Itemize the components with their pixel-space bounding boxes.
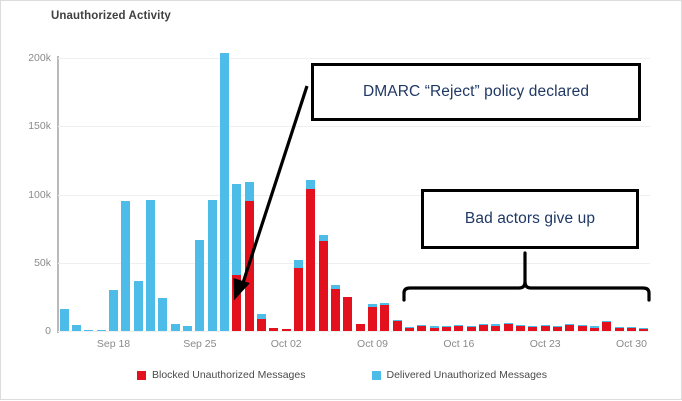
bar-segment-blocked[interactable]: [380, 305, 389, 331]
legend-swatch-icon: [137, 371, 146, 380]
bar-group[interactable]: [72, 325, 81, 331]
bar-segment-delivered[interactable]: [257, 314, 266, 319]
bar-segment-blocked[interactable]: [615, 328, 624, 331]
bar-segment-delivered[interactable]: [319, 235, 328, 241]
bar-group[interactable]: [615, 327, 624, 331]
bar-segment-delivered[interactable]: [134, 281, 143, 332]
bar-group[interactable]: [565, 324, 574, 331]
bar-segment-delivered[interactable]: [72, 325, 81, 331]
bar-segment-delivered[interactable]: [479, 324, 488, 325]
bar-segment-delivered[interactable]: [442, 326, 451, 327]
legend-item-delivered[interactable]: Delivered Unauthorized Messages: [372, 369, 548, 381]
bar-group[interactable]: [356, 324, 365, 332]
bar-segment-blocked[interactable]: [516, 326, 525, 331]
bar-segment-delivered[interactable]: [417, 325, 426, 326]
bar-group[interactable]: [220, 53, 229, 331]
bar-segment-blocked[interactable]: [331, 289, 340, 331]
bar-segment-delivered[interactable]: [158, 298, 167, 331]
bar-group[interactable]: [84, 330, 93, 331]
chart-legend: Blocked Unauthorized MessagesDelivered U…: [1, 369, 682, 381]
bar-segment-delivered[interactable]: [639, 328, 648, 329]
bar-segment-delivered[interactable]: [553, 326, 562, 327]
bar-segment-blocked[interactable]: [442, 327, 451, 331]
bar-group[interactable]: [504, 323, 513, 331]
bar-group[interactable]: [183, 326, 192, 331]
y-axis-tick-label: 50k: [34, 257, 51, 269]
bar-segment-delivered[interactable]: [306, 180, 315, 190]
gridline: [58, 58, 650, 59]
bar-segment-delivered[interactable]: [516, 325, 525, 326]
bar-segment-delivered[interactable]: [454, 325, 463, 326]
bar-segment-delivered[interactable]: [504, 323, 513, 324]
bar-group[interactable]: [627, 327, 636, 331]
bar-segment-delivered[interactable]: [232, 184, 241, 275]
bar-group[interactable]: [171, 324, 180, 332]
bar-segment-delivered[interactable]: [578, 325, 587, 326]
bar-segment-blocked[interactable]: [405, 328, 414, 331]
bar-segment-blocked[interactable]: [467, 327, 476, 331]
bar-segment-blocked[interactable]: [627, 328, 636, 331]
bar-group[interactable]: [639, 328, 648, 331]
bar-group[interactable]: [282, 329, 291, 331]
bar-segment-delivered[interactable]: [528, 326, 537, 327]
bar-group[interactable]: [306, 180, 315, 332]
bar-segment-blocked[interactable]: [565, 325, 574, 331]
legend-item-blocked[interactable]: Blocked Unauthorized Messages: [137, 369, 306, 381]
bar-segment-delivered[interactable]: [60, 309, 69, 331]
bar-segment-blocked[interactable]: [639, 329, 648, 331]
bar-segment-blocked[interactable]: [306, 189, 315, 331]
x-axis-tick-label: Oct 23: [530, 338, 561, 350]
bar-group[interactable]: [343, 297, 352, 331]
bar-segment-blocked[interactable]: [257, 319, 266, 331]
bar-group[interactable]: [195, 240, 204, 331]
bar-group[interactable]: [590, 326, 599, 331]
legend-label: Delivered Unauthorized Messages: [387, 369, 548, 381]
gridline: [58, 331, 650, 332]
bar-group[interactable]: [331, 285, 340, 331]
bar-segment-delivered[interactable]: [541, 325, 550, 326]
bar-segment-blocked[interactable]: [368, 307, 377, 331]
bar-group[interactable]: [380, 303, 389, 331]
bar-group[interactable]: [602, 321, 611, 331]
y-axis-ticks: 050k100k150k200k: [1, 1, 51, 401]
bar-group[interactable]: [405, 327, 414, 331]
bar-segment-delivered[interactable]: [195, 240, 204, 331]
bar-group[interactable]: [393, 320, 402, 331]
bar-segment-delivered[interactable]: [146, 200, 155, 331]
bar-segment-delivered[interactable]: [467, 326, 476, 327]
bar-group[interactable]: [97, 330, 106, 331]
bar-segment-delivered[interactable]: [97, 330, 106, 331]
bar-group[interactable]: [208, 200, 217, 331]
bar-segment-blocked[interactable]: [269, 328, 278, 331]
x-axis-tick-label: Oct 02: [271, 338, 302, 350]
bar-group[interactable]: [134, 281, 143, 332]
bar-segment-blocked[interactable]: [430, 328, 439, 331]
bar-segment-delivered[interactable]: [183, 326, 192, 331]
bar-segment-delivered[interactable]: [294, 260, 303, 268]
bar-group[interactable]: [516, 325, 525, 331]
bar-group[interactable]: [146, 200, 155, 331]
bar-segment-blocked[interactable]: [504, 324, 513, 331]
bar-segment-delivered[interactable]: [380, 303, 389, 305]
bar-group[interactable]: [269, 328, 278, 331]
bar-segment-delivered[interactable]: [565, 324, 574, 325]
chart-title: Unauthorized Activity: [51, 10, 171, 22]
bar-segment-blocked[interactable]: [454, 326, 463, 331]
bar-group[interactable]: [491, 324, 500, 331]
bar-segment-delivered[interactable]: [405, 327, 414, 328]
bar-group[interactable]: [121, 201, 130, 331]
bar-segment-delivered[interactable]: [602, 321, 611, 322]
bar-group[interactable]: [257, 314, 266, 331]
bar-group[interactable]: [417, 325, 426, 331]
bar-segment-delivered[interactable]: [220, 53, 229, 331]
bar-segment-blocked[interactable]: [232, 275, 241, 331]
bar-group[interactable]: [294, 260, 303, 331]
bar-segment-delivered[interactable]: [84, 330, 93, 331]
bar-group[interactable]: [232, 184, 241, 331]
bar-group[interactable]: [442, 326, 451, 331]
bar-segment-blocked[interactable]: [319, 241, 328, 331]
bar-segment-delivered[interactable]: [627, 327, 636, 328]
chart-container: Unauthorized Activity 050k100k150k200k S…: [0, 0, 682, 400]
bar-group[interactable]: [578, 325, 587, 331]
bar-segment-delivered[interactable]: [393, 320, 402, 321]
bar-segment-blocked[interactable]: [356, 324, 365, 332]
legend-label: Blocked Unauthorized Messages: [152, 369, 306, 381]
bar-group[interactable]: [60, 309, 69, 331]
x-axis-tick-label: Oct 16: [443, 338, 474, 350]
bad-actors-callout: Bad actors give up: [421, 189, 639, 249]
y-axis-tick-label: 0: [45, 325, 51, 337]
bar-segment-delivered[interactable]: [109, 290, 118, 331]
x-axis-tick-label: Sep 25: [183, 338, 216, 350]
bar-segment-blocked[interactable]: [602, 322, 611, 331]
bar-segment-delivered[interactable]: [368, 304, 377, 307]
bar-segment-delivered[interactable]: [245, 182, 254, 201]
bar-segment-delivered[interactable]: [331, 285, 340, 288]
bar-group[interactable]: [479, 324, 488, 331]
x-axis-tick-label: Oct 09: [357, 338, 388, 350]
bar-segment-delivered[interactable]: [121, 201, 130, 331]
bar-group[interactable]: [467, 326, 476, 331]
bar-segment-blocked[interactable]: [479, 325, 488, 331]
legend-swatch-icon: [372, 371, 381, 380]
bar-segment-blocked[interactable]: [590, 328, 599, 331]
bar-group[interactable]: [245, 182, 254, 331]
bar-group[interactable]: [158, 298, 167, 331]
dmarc-policy-callout: DMARC “Reject” policy declared: [311, 63, 641, 121]
bar-segment-delivered[interactable]: [491, 324, 500, 325]
bar-segment-blocked[interactable]: [553, 327, 562, 331]
bar-group[interactable]: [454, 325, 463, 331]
bar-segment-blocked[interactable]: [282, 329, 291, 331]
x-axis-tick-label: Sep 18: [97, 338, 130, 350]
bar-group[interactable]: [109, 290, 118, 331]
bar-segment-blocked[interactable]: [294, 268, 303, 331]
bad-actors-callout-text: Bad actors give up: [465, 210, 595, 228]
bar-group[interactable]: [553, 326, 562, 331]
y-axis-tick-label: 100k: [28, 189, 51, 201]
bar-group[interactable]: [430, 326, 439, 331]
dmarc-policy-callout-text: DMARC “Reject” policy declared: [363, 83, 589, 101]
bar-group[interactable]: [541, 325, 550, 331]
gridline: [58, 126, 650, 127]
bar-group[interactable]: [368, 304, 377, 331]
bar-segment-blocked[interactable]: [245, 201, 254, 331]
bar-segment-blocked[interactable]: [541, 326, 550, 331]
bar-segment-delivered[interactable]: [615, 327, 624, 328]
y-axis-tick-label: 150k: [28, 120, 51, 132]
bar-segment-blocked[interactable]: [491, 326, 500, 331]
y-axis-tick-label: 200k: [28, 52, 51, 64]
bar-segment-blocked[interactable]: [343, 297, 352, 331]
bar-segment-delivered[interactable]: [171, 324, 180, 332]
bar-segment-blocked[interactable]: [417, 326, 426, 331]
bar-segment-blocked[interactable]: [578, 326, 587, 331]
bar-group[interactable]: [528, 326, 537, 331]
x-axis-tick-label: Oct 30: [616, 338, 647, 350]
bar-segment-blocked[interactable]: [528, 327, 537, 331]
bar-segment-delivered[interactable]: [208, 200, 217, 331]
bar-group[interactable]: [319, 235, 328, 331]
bar-segment-delivered[interactable]: [590, 326, 599, 327]
bar-segment-delivered[interactable]: [430, 326, 439, 327]
bar-segment-blocked[interactable]: [393, 321, 402, 331]
